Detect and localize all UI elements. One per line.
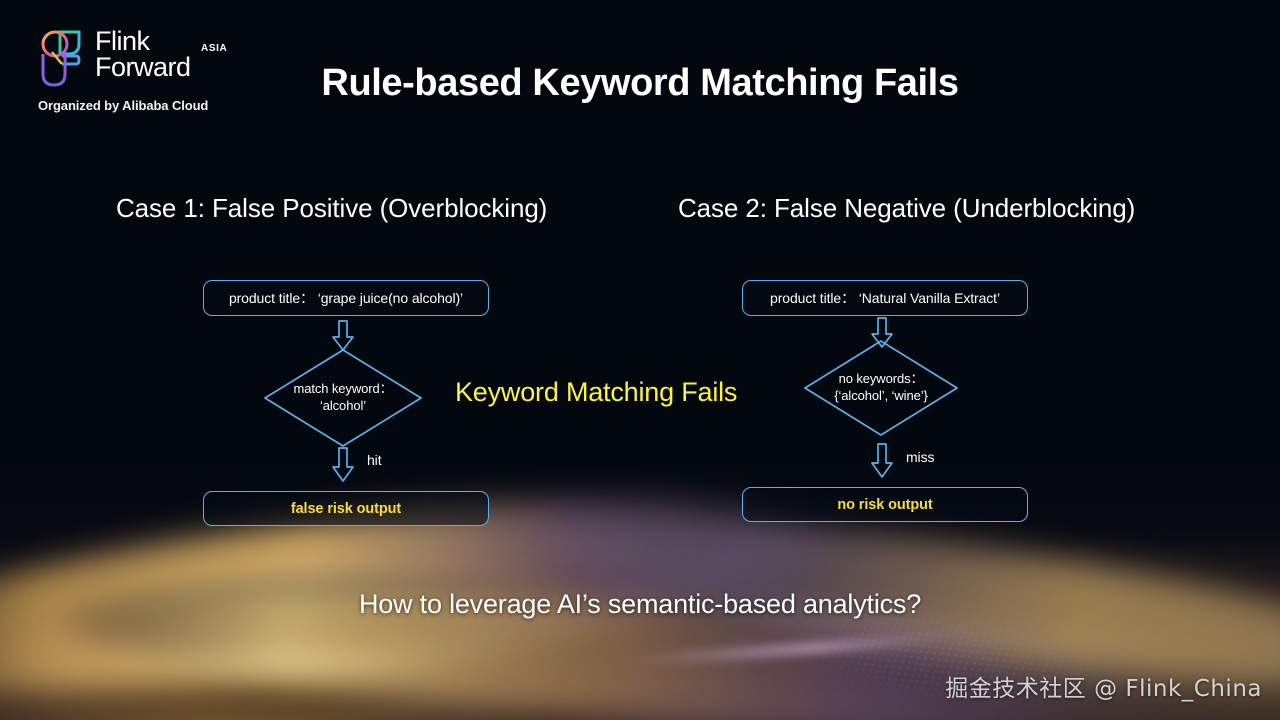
case-2-input-box: product title： ‘Natural Vanilla Extract’: [742, 280, 1028, 316]
case-1-input-text: product title： ‘grape juice(no alcohol)’: [229, 288, 463, 308]
case-2-output-text: no risk output: [837, 497, 932, 513]
slide-canvas: Flink Forward ASIA Organized by Alibaba …: [0, 0, 1280, 720]
case-1-decision-diamond: match keyword： ‘alcohol’: [263, 348, 423, 448]
logo-text-asia: ASIA: [201, 43, 227, 54]
case-1-decision-line2: ‘alcohol’: [320, 398, 366, 415]
bottom-question-text: How to leverage AI’s semantic-based anal…: [0, 589, 1280, 620]
case-1-decision-line1: match keyword：: [293, 381, 392, 398]
center-callout-text: Keyword Matching Fails: [455, 377, 737, 408]
case-2-heading: Case 2: False Negative (Underblocking): [678, 193, 1135, 224]
case-2-decision-diamond: no keywords： {‘alcohol’, ‘wine’}: [803, 339, 959, 437]
case-2-output-box: no risk output: [742, 487, 1028, 522]
case-1-arrow-bottom-icon: [331, 447, 355, 483]
case-1-heading: Case 1: False Positive (Overblocking): [116, 193, 547, 224]
case-1-edge-label: hit: [367, 452, 382, 468]
case-1-output-text: false risk output: [291, 501, 401, 517]
logo-text-flink: Flink: [95, 28, 191, 54]
case-2-arrow-bottom-icon: [870, 443, 894, 479]
watermark-text: 掘金技术社区 @ Flink_China: [945, 669, 1262, 703]
page-title: Rule-based Keyword Matching Fails: [0, 62, 1280, 105]
case-2-decision-line1: no keywords：: [839, 371, 924, 388]
case-2-decision-line2: {‘alcohol’, ‘wine’}: [834, 388, 928, 405]
case-2-edge-label: miss: [906, 449, 934, 465]
case-1-output-box: false risk output: [203, 491, 489, 526]
background-glow-streak: [620, 634, 950, 667]
case-2-input-text: product title： ‘Natural Vanilla Extract’: [770, 288, 1000, 308]
case-1-input-box: product title： ‘grape juice(no alcohol)’: [203, 280, 489, 316]
